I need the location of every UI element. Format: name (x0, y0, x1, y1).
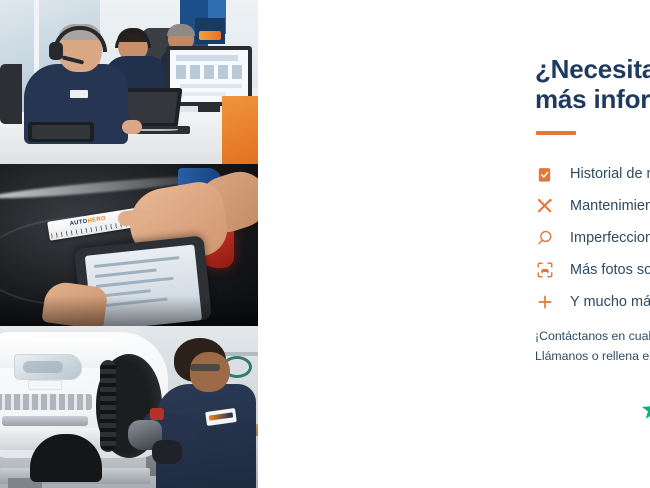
trustpilot-star-icon (641, 398, 650, 426)
list-item-label: Imperfecciones (570, 230, 650, 246)
ruler-brand-1: AUTO (69, 219, 88, 228)
feature-list: Historial de mantenimientos Mantenimient… (536, 158, 650, 318)
photo-call-center (0, 0, 258, 164)
trustpilot-logo[interactable]: Trustpilot (641, 398, 650, 426)
list-item-label: Y mucho más (570, 294, 650, 310)
page-title: ¿Necesitas más información? (535, 54, 650, 115)
mechanic (144, 336, 256, 488)
car-scan-icon (536, 258, 570, 282)
paragraph-line-2: Llámanos o rellena el formulario de cont… (535, 347, 650, 367)
list-item: Y mucho más (536, 286, 650, 318)
paragraph-line-1: ¡Contáctanos en cualquier momento para m… (535, 327, 650, 347)
title-underline (536, 131, 576, 135)
content-panel: ¿Necesitas más información? Estamos enca… (258, 0, 650, 488)
trustpilot-widget[interactable]: Trustpilot Excelente EMPRESA VERIFICADA (641, 386, 650, 448)
headlight (14, 354, 82, 380)
ruler-brand-2: HERO (87, 216, 106, 225)
office-chair (0, 64, 22, 124)
photo-car-inspection: AUTOHERO (0, 164, 258, 326)
list-item: Más fotos sobre el coche (536, 254, 650, 286)
tools-cross-icon (536, 194, 570, 218)
tablet (28, 122, 94, 142)
list-item-label: Más fotos sobre el coche (570, 262, 650, 278)
photo-collage: AUTOHERO (0, 0, 258, 488)
magnifier-icon (536, 226, 570, 250)
list-item-label: Mantenimiento realizado (570, 198, 650, 214)
list-item-label: Historial de mantenimientos (570, 166, 650, 182)
list-item: Mantenimiento realizado (536, 190, 650, 222)
title-line-2: más información? (535, 84, 650, 114)
orange-panel (222, 96, 258, 164)
list-item: Historial de mantenimientos (536, 158, 650, 190)
photo-wheel-inspection (0, 326, 258, 488)
title-line-1: ¿Necesitas (535, 54, 650, 84)
clipboard-check-icon (536, 162, 570, 186)
list-item: Imperfecciones (536, 222, 650, 254)
plus-icon (536, 290, 570, 314)
safety-glasses (190, 364, 220, 371)
contact-paragraph: ¡Contáctanos en cualquier momento para m… (535, 327, 650, 367)
info-banner: AUTOHERO (0, 0, 650, 488)
